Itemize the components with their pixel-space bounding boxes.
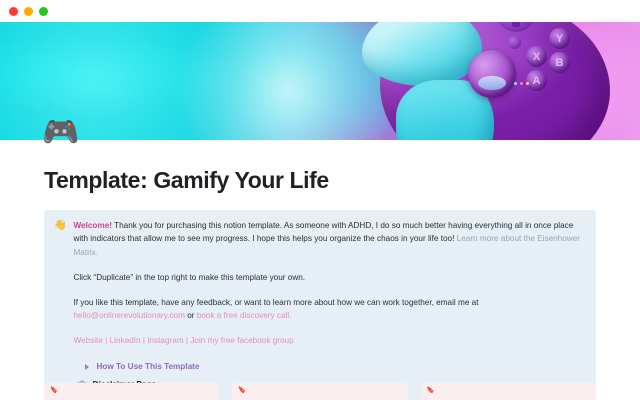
duplicate-paragraph: Click “Duplicate” in the top right to ma… bbox=[73, 271, 584, 284]
bookmark-icon: 🔖 bbox=[238, 388, 246, 395]
controller-leds bbox=[514, 82, 529, 85]
website-link[interactable]: Website bbox=[73, 336, 102, 345]
bottom-card-3[interactable]: 🔖 bbox=[421, 383, 596, 400]
bottom-card-row: 🔖 🔖 🔖 bbox=[44, 383, 596, 400]
maximize-window-button[interactable] bbox=[39, 7, 48, 16]
controller-button-x: X bbox=[526, 46, 547, 67]
bottom-card-1[interactable]: 🔖 bbox=[44, 383, 219, 400]
controller-button-a: A bbox=[526, 70, 547, 91]
facebook-group-link[interactable]: Join my free facebook group bbox=[190, 336, 293, 345]
page-icon[interactable]: 🎮 bbox=[42, 118, 79, 148]
welcome-label: Welcome! bbox=[73, 221, 112, 230]
instagram-link[interactable]: Instagram bbox=[147, 336, 183, 345]
how-to-use-toggle-label: How To Use This Template bbox=[96, 360, 199, 373]
chevron-right-icon[interactable] bbox=[85, 364, 89, 370]
controller-button-b: B bbox=[549, 52, 570, 73]
email-link[interactable]: hello@onlinerevolutionary.com bbox=[73, 311, 184, 320]
controller-button-y: Y bbox=[549, 28, 570, 49]
callout-text-body: Welcome! Thank you for purchasing this n… bbox=[73, 219, 584, 400]
controller-menu-button bbox=[508, 36, 521, 49]
game-controller-illustration: Y X B A bbox=[318, 22, 618, 140]
how-to-use-toggle[interactable]: How To Use This Template bbox=[73, 360, 584, 373]
discovery-call-link[interactable]: book a free discovery call. bbox=[197, 311, 292, 320]
bottom-card-2[interactable]: 🔖 bbox=[232, 383, 407, 400]
controller-thumbstick bbox=[468, 50, 516, 98]
title-bar bbox=[0, 0, 640, 22]
minimize-window-button[interactable] bbox=[24, 7, 33, 16]
page-content: Template: Gamify Your Life 👋 Welcome! Th… bbox=[0, 140, 640, 400]
feedback-middle: or bbox=[185, 311, 197, 320]
social-links-row: Website | LinkedIn | Instagram | Join my… bbox=[73, 334, 584, 347]
bookmark-icon: 🔖 bbox=[50, 388, 58, 395]
cover-image[interactable]: Y X B A bbox=[0, 22, 640, 140]
close-window-button[interactable] bbox=[9, 7, 18, 16]
welcome-paragraph: Welcome! Thank you for purchasing this n… bbox=[73, 219, 584, 259]
feedback-paragraph: If you like this template, have any feed… bbox=[73, 296, 584, 323]
browser-window: Y X B A 🎮 Template: Gamify Your Life 👋 W… bbox=[0, 0, 640, 400]
feedback-prefix: If you like this template, have any feed… bbox=[73, 298, 478, 307]
bookmark-icon: 🔖 bbox=[427, 388, 435, 395]
social-separator-1: | bbox=[103, 336, 110, 345]
linkedin-link[interactable]: LinkedIn bbox=[110, 336, 141, 345]
welcome-callout[interactable]: 👋 Welcome! Thank you for purchasing this… bbox=[44, 210, 596, 400]
page-title: Template: Gamify Your Life bbox=[44, 167, 596, 194]
waving-hand-icon: 👋 bbox=[54, 219, 66, 233]
